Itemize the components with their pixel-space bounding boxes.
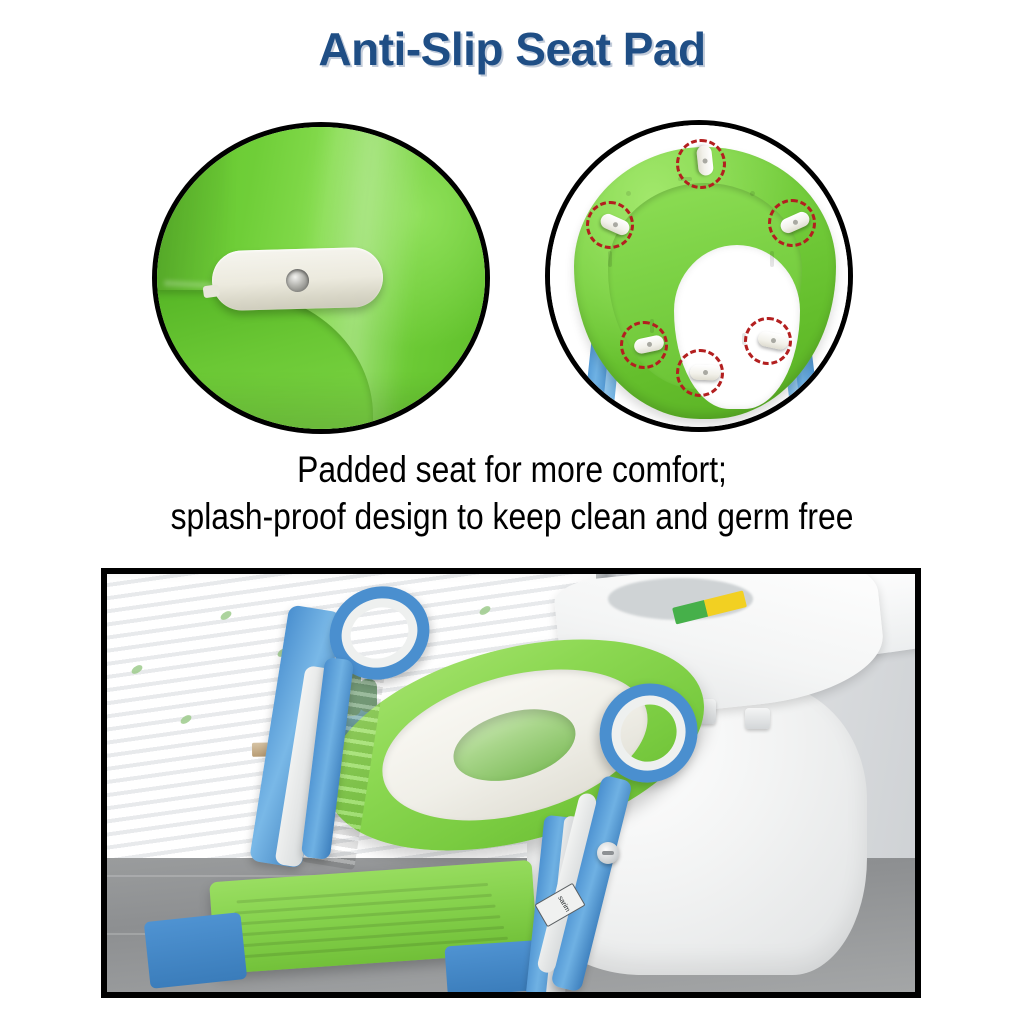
highlight-ring-bottom [676,349,724,397]
infographic-page: Anti-Slip Seat Pad [0,0,1024,1024]
seat-rib [608,251,612,267]
seat-rib [750,191,755,196]
seat-rib [626,191,631,196]
page-title: Anti-Slip Seat Pad [0,22,1024,76]
bathroom-scene: sarim [107,574,915,992]
seat-underside-scene [550,125,848,427]
anti-slip-pad-tab [203,284,220,298]
highlight-ring-right [768,199,816,247]
highlight-ring-left [586,201,634,249]
brand-label-text: sarim [555,893,572,916]
product-in-use-photo: sarim [101,568,921,998]
anti-slip-pad-screw [285,269,309,293]
callout-seat-underside [545,120,853,432]
callout-anti-slip-pad-closeup [152,122,490,434]
callout-row [0,112,1024,432]
caption-line-2: splash-proof design to keep clean and ge… [72,493,953,540]
seat-rib [770,251,774,267]
highlight-ring-bottom-right [744,317,792,365]
highlight-ring-top [676,139,726,189]
step-side-frame [144,912,247,989]
handle-pivot-screw[interactable] [597,842,619,864]
toilet-lid-hinge [745,708,769,729]
plastic-shadow-bottom [157,375,485,434]
caption: Padded seat for more comfort; splash-pro… [72,446,953,541]
padded-seat-opening [446,697,584,793]
caption-line-1: Padded seat for more comfort; [72,446,953,493]
anti-slip-pad [211,247,384,311]
highlight-ring-bottom-left [620,321,668,369]
